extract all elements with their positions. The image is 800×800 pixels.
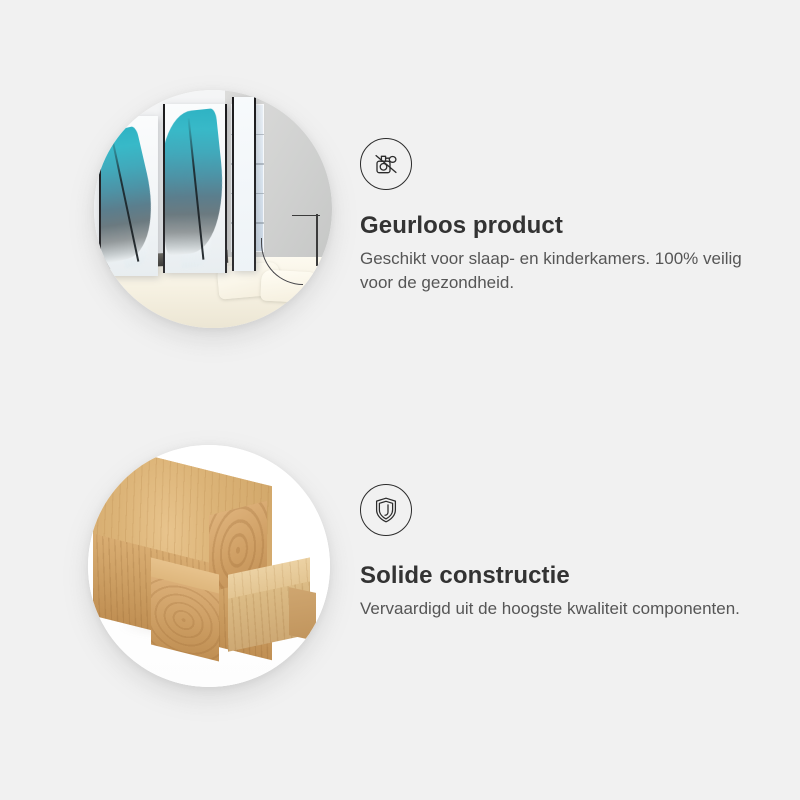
product-feature-page: { "page": { "background_color": "#f1f1f1… — [0, 0, 800, 800]
wood-scene — [88, 445, 330, 687]
photo-content — [88, 445, 330, 687]
feature-row-solid-construction: Solide constructie Vervaardigd uit de ho… — [0, 418, 800, 728]
feature-title: Geurloos product — [360, 212, 800, 240]
wood-plank-end-grain — [289, 587, 316, 641]
feature-title: Solide constructie — [360, 562, 800, 590]
feature-description: Geschikt voor slaap- en kinderkamers. 10… — [360, 247, 742, 295]
feature-text-column: Solide constructie Vervaardigd uit de ho… — [360, 418, 800, 621]
feature-text-column: Geurloos product Geschikt voor slaap- en… — [360, 62, 800, 295]
canvas-panel — [232, 97, 256, 271]
feature-media-column — [0, 62, 360, 372]
feature-media-column — [0, 418, 360, 728]
photo-content — [94, 90, 332, 328]
bedroom-feather-canvas-photo — [94, 90, 332, 328]
shield-icon — [360, 484, 412, 536]
wooden-blocks-photo — [88, 445, 330, 687]
wall-lamp-stem — [316, 214, 318, 266]
canvas-panel — [163, 104, 227, 273]
no-fragrance-icon — [360, 138, 412, 190]
feature-row-odourless-product: Geurloos product Geschikt voor slaap- en… — [0, 62, 800, 372]
feature-description: Vervaardigd uit de hoogste kwaliteit com… — [360, 597, 742, 621]
canvas-panel — [99, 116, 159, 275]
bedroom-scene — [94, 90, 332, 328]
